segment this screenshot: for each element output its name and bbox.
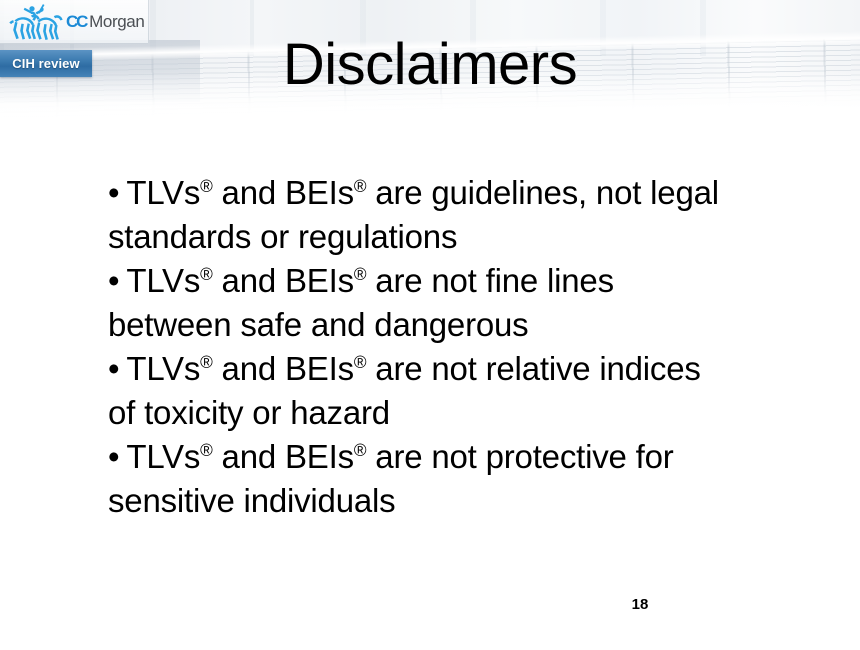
brand-wordmark-morgan: Morgan	[89, 12, 144, 32]
bullet-item-1-line-1: •TLVs® and BEIs® are guidelines, not leg…	[108, 171, 820, 215]
registered-mark-icon: ®	[354, 264, 366, 284]
registered-mark-icon: ®	[200, 264, 212, 284]
slide-page-number: 18	[600, 596, 680, 613]
bullet-marker: •	[108, 262, 119, 299]
presentation-slide: CC Morgan CIH review Disclaimers •TLVs® …	[0, 0, 860, 650]
bullet-marker: •	[108, 438, 119, 475]
registered-mark-icon: ®	[200, 352, 212, 372]
bullet-text-tlvs: TLVs	[126, 262, 200, 299]
slide-title: Disclaimers	[0, 33, 860, 97]
bullet-text-beis: and BEIs	[213, 350, 354, 387]
bullet-item-3-line-2: of toxicity or hazard	[108, 391, 820, 435]
brand-wordmark-cc: CC	[66, 12, 86, 32]
registered-mark-icon: ®	[354, 176, 366, 196]
bullet-item-4-line-2: sensitive individuals	[108, 479, 820, 523]
bullet-text-beis: and BEIs	[213, 174, 354, 211]
bullet-item-4-line-1: •TLVs® and BEIs® are not protective for	[108, 435, 820, 479]
bullet-text-tlvs: TLVs	[126, 350, 200, 387]
bullet-item-3-line-1: •TLVs® and BEIs® are not relative indice…	[108, 347, 820, 391]
registered-mark-icon: ®	[200, 440, 212, 460]
bullet-text-tail: are guidelines, not legal	[366, 174, 719, 211]
registered-mark-icon: ®	[354, 440, 366, 460]
bullet-marker: •	[108, 174, 119, 211]
bullet-text-tail: are not protective for	[366, 438, 673, 475]
registered-mark-icon: ®	[354, 352, 366, 372]
slide-body: •TLVs® and BEIs® are guidelines, not leg…	[108, 171, 820, 523]
brand-wordmark: CC Morgan	[66, 12, 144, 32]
bullet-item-1-line-2: standards or regulations	[108, 215, 820, 259]
bullet-item-2-line-2: between safe and dangerous	[108, 303, 820, 347]
bullet-text-tail: are not fine lines	[366, 262, 614, 299]
bullet-text-tlvs: TLVs	[126, 174, 200, 211]
bullet-text-tail: are not relative indices	[366, 350, 700, 387]
bullet-marker: •	[108, 350, 119, 387]
bullet-text-beis: and BEIs	[213, 438, 354, 475]
registered-mark-icon: ®	[200, 176, 212, 196]
bullet-text-tlvs: TLVs	[126, 438, 200, 475]
bullet-text-beis: and BEIs	[213, 262, 354, 299]
bullet-item-2-line-1: •TLVs® and BEIs® are not fine lines	[108, 259, 820, 303]
